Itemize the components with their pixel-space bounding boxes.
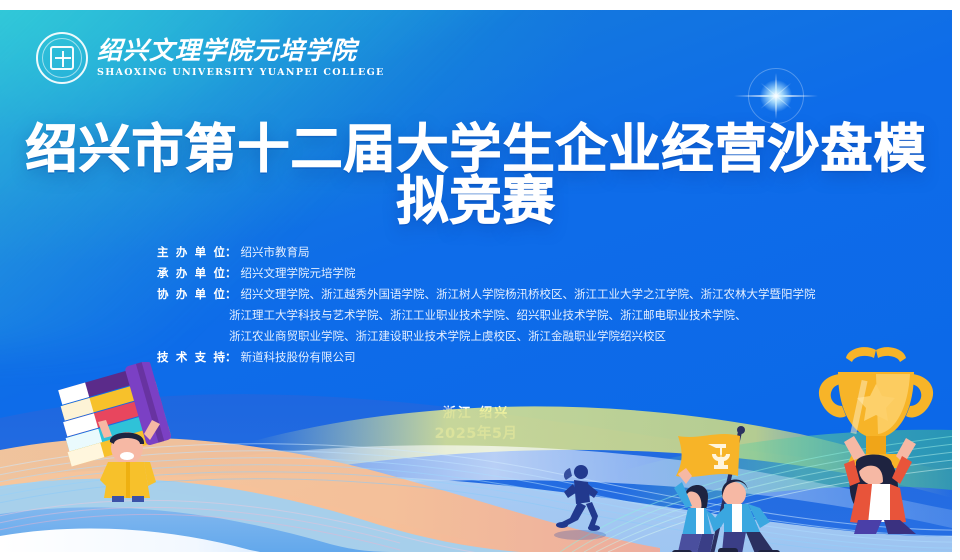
credit-value: 绍兴文理学院、浙江越秀外国语学院、浙江树人学院杨汛桥校区、浙江工业大学之江学院、… <box>241 284 816 305</box>
credit-colon: ： <box>225 284 237 305</box>
credit-label: 协办单位 <box>157 284 225 305</box>
poster-canvas: 绍兴文理学院元培学院 SHAOXING UNIVERSITY YUANPEI C… <box>0 10 952 552</box>
credit-row-organizer: 承办单位 ： 绍兴文理学院元培学院 <box>157 263 857 284</box>
credit-label: 承办单位 <box>157 263 225 284</box>
credit-value: 绍兴文理学院元培学院 <box>241 263 356 284</box>
credit-row-coorganizer: 协办单位 ： 绍兴文理学院、浙江越秀外国语学院、浙江树人学院杨汛桥校区、浙江工业… <box>157 284 857 305</box>
university-logo: 绍兴文理学院元培学院 SHAOXING UNIVERSITY YUANPEI C… <box>36 32 385 84</box>
page-title: 绍兴市第十二届大学生企业经营沙盘模拟竞赛 <box>0 124 952 228</box>
poster-root: 绍兴文理学院元培学院 SHAOXING UNIVERSITY YUANPEI C… <box>0 0 960 560</box>
two-students-planting-flag-illustration <box>656 410 816 552</box>
credit-row-host: 主办单位 ： 绍兴市教育局 <box>157 242 857 263</box>
university-seal-icon <box>36 32 88 84</box>
credit-label: 主办单位 <box>157 242 225 263</box>
student-carrying-books-illustration <box>48 362 198 502</box>
credit-value: 绍兴市教育局 <box>241 242 310 263</box>
running-person-silhouette <box>540 462 610 540</box>
credit-colon: ： <box>225 242 237 263</box>
logo-name-en: SHAOXING UNIVERSITY YUANPEI COLLEGE <box>97 67 385 78</box>
logo-text: 绍兴文理学院元培学院 SHAOXING UNIVERSITY YUANPEI C… <box>97 38 385 78</box>
logo-name-cn: 绍兴文理学院元培学院 <box>97 38 385 64</box>
woman-holding-trophy-illustration <box>796 344 951 534</box>
credit-colon: ： <box>225 263 237 284</box>
